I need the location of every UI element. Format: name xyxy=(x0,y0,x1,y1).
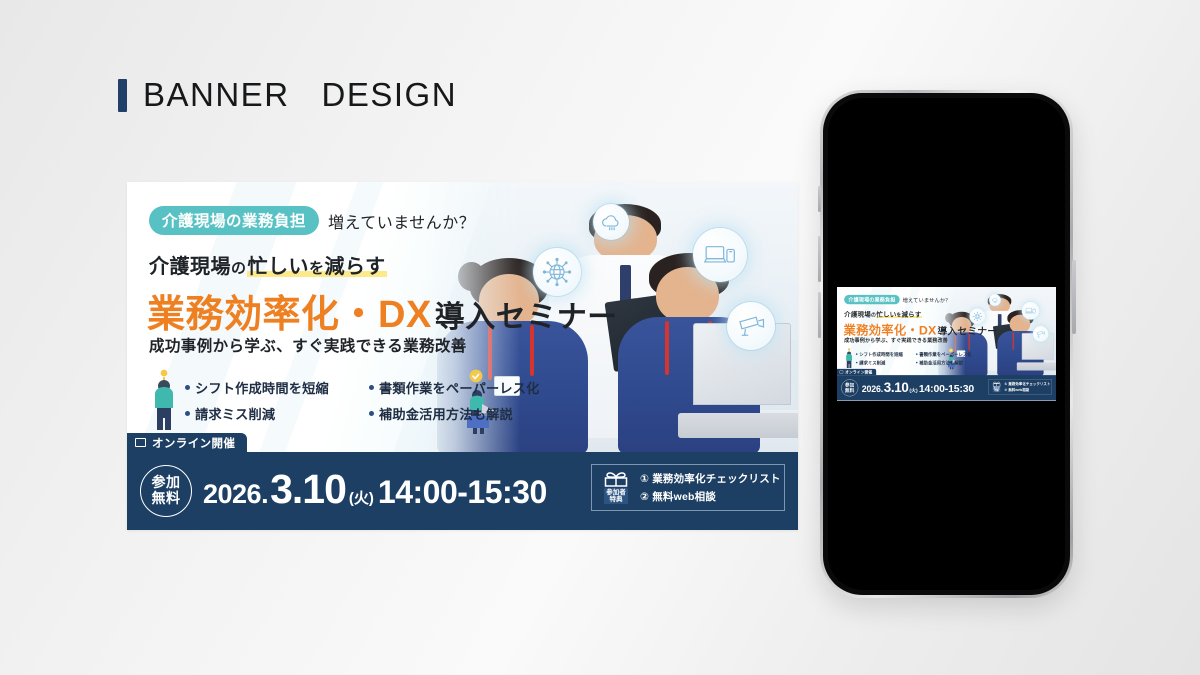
laptop-phone-icon xyxy=(1022,302,1040,320)
title-accent-bar xyxy=(118,79,127,112)
feature-bullets: シフト作成時間を短縮 書類作業をペーパーレス化 請求ミス削減 補助金活用方法も解… xyxy=(185,378,540,423)
lead-prefix: 介護現場 xyxy=(844,311,871,318)
cloud-upload-icon xyxy=(989,294,1001,306)
phone-volume-up-button[interactable] xyxy=(818,236,822,282)
question-text: 増えていませんか？ xyxy=(903,296,951,304)
burden-pill-badge: 介護現場の業務負担 xyxy=(844,295,899,304)
gift-box-icon: 参加者 特典 xyxy=(991,381,1002,392)
date-year: 2026. xyxy=(862,384,883,394)
lead-particle-no: の xyxy=(231,260,247,277)
smartphone-mockup: 介護現場の業務負担 増えていませんか？ 介護現場の忙しいを減らす 業務効率化・D… xyxy=(820,90,1073,598)
gift-item: ② 無料web相談 xyxy=(1004,387,1050,392)
phone-silent-switch[interactable] xyxy=(818,186,821,212)
participant-benefits-box: 参加者 特典 ① 業務効率化チェックリスト ② 無料web相談 xyxy=(591,464,785,511)
phone-screen: 介護現場の業務負担 増えていませんか？ 介護現場の忙しいを減らす 業務効率化・D… xyxy=(828,98,1065,590)
headline-orange: 業務効率化・DX xyxy=(844,320,937,338)
bullet-item: 補助金活用方法も解説 xyxy=(916,359,972,365)
banner-artwork: 介護現場の業務負担 増えていませんか？ 介護現場の忙しいを減らす 業務効率化・D… xyxy=(127,182,798,530)
feature-bullets: シフト作成時間を短縮 書類作業をペーパーレス化 請求ミス削減 補助金活用方法も解… xyxy=(856,351,972,366)
phone-volume-down-button[interactable] xyxy=(818,292,822,338)
online-event-label: オンライン開催 xyxy=(845,369,872,374)
free-badge-line1: 参加 xyxy=(152,475,181,491)
lead-copy: 介護現場の忙しいを減らす xyxy=(149,250,387,279)
date-monthday: 3.10 xyxy=(270,466,346,513)
banner-footer-bar: オンライン開催 参加 無料 2026. 3.10 (火) 14:00-15:30 xyxy=(837,375,1056,400)
headline-dark: 導入セミナー xyxy=(435,292,618,336)
headline-dark: 導入セミナー xyxy=(937,323,997,337)
online-event-tab: オンライン開催 xyxy=(127,433,247,452)
gift-item: ① 業務効率化チェックリスト xyxy=(640,471,781,486)
page-title: BANNER DESIGN xyxy=(118,76,457,114)
monitor-icon xyxy=(135,438,146,447)
free-participation-badge: 参加 無料 xyxy=(841,379,858,396)
person-idea-illustration xyxy=(147,368,181,434)
lead-prefix: 介護現場 xyxy=(149,256,231,278)
headline: 業務効率化・DX 導入セミナー xyxy=(844,320,998,338)
online-event-tab: オンライン開催 xyxy=(837,369,876,375)
online-event-label: オンライン開催 xyxy=(152,435,235,451)
question-row: 介護現場の業務負担 増えていませんか？ xyxy=(149,206,475,235)
bullet-item: 請求ミス削減 xyxy=(185,404,355,423)
gift-label-line1: 参加者 xyxy=(606,489,626,496)
bullet-item: 書類作業をペーパーレス化 xyxy=(369,378,540,397)
lead-copy: 介護現場の忙しいを減らす xyxy=(844,309,922,318)
phone-banner-artwork: 介護現場の業務負担 増えていませんか？ 介護現場の忙しいを減らす 業務効率化・D… xyxy=(837,287,1056,401)
date-dayofweek: (火) xyxy=(909,387,917,394)
cloud-upload-icon xyxy=(593,204,629,240)
gift-item: ① 業務効率化チェックリスト xyxy=(1004,381,1050,386)
date-year: 2026. xyxy=(203,479,268,510)
monitor-icon xyxy=(840,371,844,374)
gift-label-line2: 特典 xyxy=(610,496,623,503)
gift-label: 参加者 特典 xyxy=(604,488,628,505)
headline-orange: 業務効率化・DX xyxy=(147,283,432,338)
burden-pill-badge: 介護現場の業務負担 xyxy=(149,206,319,235)
free-badge-line2: 無料 xyxy=(152,491,181,507)
phone-power-button[interactable] xyxy=(1072,260,1076,334)
lead-suffix: 減らす xyxy=(901,311,921,318)
banner-footer-bar: オンライン開催 参加 無料 2026. 3.10 (火) 14:00-15:30 xyxy=(127,452,798,530)
photo-laptop-base xyxy=(678,413,798,437)
security-camera-icon xyxy=(727,302,775,350)
date-dayofweek: (火) xyxy=(349,487,374,508)
security-camera-icon xyxy=(1033,326,1049,342)
photo-laptop-base xyxy=(1017,362,1056,370)
question-row: 介護現場の業務負担 増えていませんか？ xyxy=(844,295,950,304)
bullet-item: 補助金活用方法も解説 xyxy=(369,404,540,423)
gift-box-icon: 参加者 特典 xyxy=(599,471,633,505)
event-time: 14:00-15:30 xyxy=(919,382,974,394)
date-monthday: 3.10 xyxy=(884,380,909,395)
bullet-item: シフト作成時間を短縮 xyxy=(856,351,911,357)
bullet-item: シフト作成時間を短縮 xyxy=(185,378,355,397)
event-datetime: 2026. 3.10 (火) 14:00-15:30 xyxy=(862,380,974,395)
subline: 成功事例から学ぶ、すぐ実践できる業務改善 xyxy=(844,337,948,344)
lead-suffix: 減らす xyxy=(325,256,386,278)
bullet-item: 書類作業をペーパーレス化 xyxy=(916,351,972,357)
dynamic-island xyxy=(911,108,983,128)
gift-label: 参加者 特典 xyxy=(993,387,1001,393)
gift-label-line2: 特典 xyxy=(994,389,998,391)
phone-banner-preview: 介護現場の業務負担 増えていませんか？ 介護現場の忙しいを減らす 業務効率化・D… xyxy=(837,287,1056,401)
person-idea-illustration xyxy=(844,348,855,370)
event-time: 14:00-15:30 xyxy=(378,474,547,511)
lead-highlight: 忙しい xyxy=(248,256,310,278)
free-participation-badge: 参加 無料 xyxy=(140,465,192,517)
lead-particle-wo: を xyxy=(309,260,325,277)
subline: 成功事例から学ぶ、すぐ実践できる業務改善 xyxy=(149,334,467,356)
slide-canvas: BANNER DESIGN xyxy=(0,0,1200,675)
event-datetime: 2026. 3.10 (火) 14:00-15:30 xyxy=(203,466,547,513)
laptop-phone-icon xyxy=(693,228,747,282)
lead-highlight: 忙しい xyxy=(876,311,896,318)
page-title-label: BANNER DESIGN xyxy=(143,76,457,114)
question-text: 増えていませんか？ xyxy=(328,209,475,233)
participant-benefits-box: 参加者 特典 ① 業務効率化チェックリスト ② 無料web相談 xyxy=(988,379,1051,394)
gift-item: ② 無料web相談 xyxy=(640,489,781,504)
bullet-item: 請求ミス削減 xyxy=(856,359,911,365)
headline: 業務効率化・DX 導入セミナー xyxy=(147,283,618,338)
free-badge-line2: 無料 xyxy=(845,388,854,393)
